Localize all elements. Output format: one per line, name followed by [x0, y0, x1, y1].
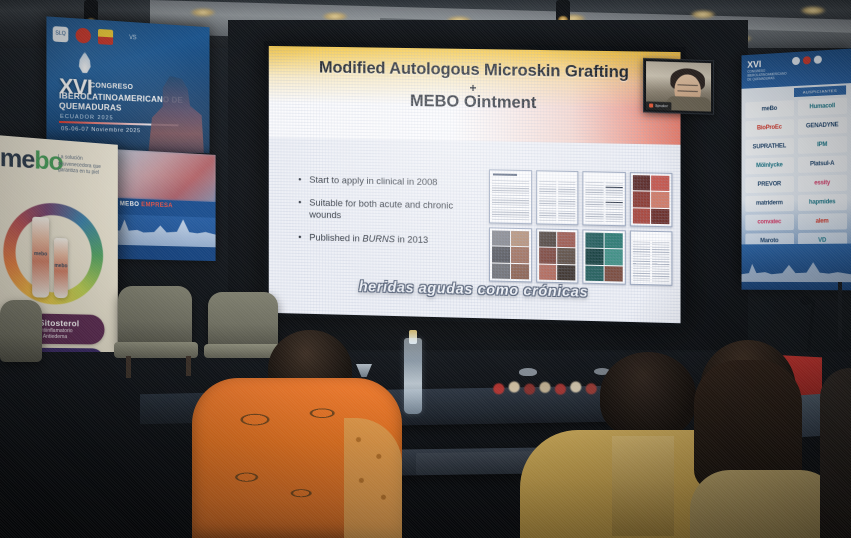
paper-thumbnail [629, 172, 672, 227]
thumb-photo-cell [585, 265, 603, 281]
sponsor-logo: essity [797, 175, 847, 192]
attendee-head [600, 352, 696, 438]
webcam-pip-panel[interactable]: Speaker [643, 58, 714, 115]
bullet-text: Start to apply in clinical in 2008 [309, 174, 437, 189]
paper-thumbnail [582, 171, 625, 226]
sponsor-logo: Mölnlycke [745, 157, 793, 174]
sponsor-banner: XVI CONGRESO IBEROLATINOAMERICANO DE QUE… [742, 49, 851, 291]
sponsor-logo: GENADYNE [797, 117, 847, 135]
thumb-photo-grid [492, 230, 529, 279]
sponsor-logo: alem [797, 213, 847, 230]
journal-name: BURNS [362, 233, 395, 245]
product-tube-small: mebo [54, 238, 68, 298]
jacket-collar [612, 436, 674, 536]
downlight [190, 8, 216, 17]
sponsor-logo: Humacoll [797, 98, 847, 116]
flame-logo-icon [803, 56, 811, 64]
thumb-photo-cell [557, 248, 575, 264]
thumb-figure [605, 187, 622, 203]
thumb-photo-grid [539, 231, 576, 280]
partner-logo-icon [814, 55, 822, 64]
thumb-photo-cell [511, 264, 529, 280]
thumb-photo-cell [651, 208, 669, 224]
thumb-photo-cell [539, 231, 557, 247]
chair-leg [186, 356, 191, 376]
sponsor-logo: BioProEc [745, 119, 793, 137]
thumb-photo-cell [604, 249, 622, 265]
bullet-item: • Start to apply in clinical in 2008 [298, 174, 487, 190]
projection-screen: Modified Autologous Microskin Grafting +… [264, 41, 686, 327]
attendee-orange-top [192, 378, 402, 538]
thumb-text-lines [492, 180, 529, 221]
org-logo-icon: SLQ [53, 26, 69, 42]
mebo-tagline: La solución rejuvenecedora que garantiza… [58, 154, 114, 177]
thumb-column-gap [650, 242, 652, 282]
paper-thumbnail [629, 230, 672, 285]
org-logo-icon [792, 57, 800, 65]
thumb-photo-cell [651, 192, 669, 208]
slide-bullet-list: • Start to apply in clinical in 2008 • S… [298, 174, 487, 259]
thumb-photo-grid [632, 175, 669, 224]
partner-logo-icon: \/S [120, 30, 146, 47]
sponsors-section-label: AUSPICIANTES [794, 85, 846, 97]
thumb-photo-cell [511, 247, 529, 263]
armchair [208, 292, 278, 350]
tube-label: mebo [54, 263, 67, 269]
glasses-icon [677, 84, 697, 92]
product-tube-large: mebo [32, 217, 49, 298]
mebo-brand-logo: mebo [0, 143, 63, 177]
tube-label: mebo [34, 251, 47, 258]
flame-logo-icon [76, 27, 91, 43]
secondary-banner: MEBO EMPRESA [112, 149, 216, 261]
thumb-photo-cell [585, 232, 603, 248]
thumb-photo-cell [557, 232, 575, 248]
thumb-photo-cell [585, 249, 603, 265]
flag-logo-icon [98, 28, 113, 44]
paper-thumbnail [489, 227, 532, 282]
thumb-photo-cell [492, 263, 510, 279]
conference-photo-scene: 2001 JU MATE SLQ \/S XVI CONGRESO IBEROL… [0, 0, 851, 538]
sponsor-logo: matriderm [745, 195, 793, 212]
paper-thumbnail [489, 169, 532, 224]
bullet-marker: • [298, 174, 301, 186]
chair-leg [126, 356, 131, 378]
banner-photo-area [112, 149, 216, 202]
paper-thumbnail [536, 170, 579, 225]
sponsor-logo: meBo [745, 100, 793, 118]
sponsor-logo: IPM [797, 136, 847, 154]
sponsor-banner-header: XVI CONGRESO IBEROLATINOAMERICANO DE QUE… [742, 49, 851, 89]
downlight [690, 10, 716, 19]
thumb-photo-cell [539, 248, 557, 264]
thumb-photo-cell [632, 192, 650, 208]
downlight [800, 6, 826, 15]
webcam-participant-label: Speaker [655, 104, 668, 108]
thumb-photo-cell [539, 264, 557, 280]
paper-thumbnail [582, 229, 625, 284]
thumb-column-gap [557, 182, 559, 222]
paper-thumbnail-grid [489, 169, 672, 285]
glass-small [519, 368, 537, 376]
thumb-photo-cell [604, 266, 622, 282]
sponsor-logo: hapmides [797, 194, 847, 211]
mic-muted-icon [649, 103, 653, 107]
attendee-far-right [820, 368, 851, 538]
thumb-photo-cell [651, 176, 669, 192]
sponsor-logo: PREVOR [745, 176, 793, 193]
thumb-header-bar [493, 173, 517, 175]
sponsor-congress-name: CONGRESO IBEROLATINOAMERICANO DE QUEMADU… [747, 67, 790, 81]
sponsor-logo: Platsul-A [797, 155, 847, 173]
thumb-photo-cell [632, 175, 650, 191]
banner-stand [838, 282, 842, 340]
flower-centerpiece [490, 378, 600, 396]
sponsor-logo: convatec [745, 214, 793, 231]
attendee-torso [690, 470, 840, 538]
thumb-photo-cell [557, 265, 575, 281]
armchair [118, 286, 192, 350]
thumb-photo-cell [604, 233, 622, 249]
banner-base [112, 245, 216, 261]
water-bottle [404, 338, 422, 414]
thumb-photo-cell [511, 231, 529, 247]
bullet-marker: • [298, 196, 301, 220]
speaker-torso [666, 96, 711, 112]
webcam-name-bar: Speaker [646, 101, 671, 110]
sponsor-logo: SUPRATHEL [745, 138, 793, 156]
bullet-item: • Suitable for both acute and chronic wo… [298, 196, 487, 224]
sponsor-logo-grid: meBo Humacoll BioProEc GENADYNE SUPRATHE… [745, 98, 847, 250]
thumb-photo-cell [492, 247, 510, 263]
microphone-icon [800, 296, 812, 305]
paper-thumbnail [536, 228, 579, 283]
congress-banner-screen: SLQ \/S XVI CONGRESO IBEROLATINOAMERICAN… [46, 16, 209, 153]
sponsor-header-logos [792, 55, 822, 65]
presentation-slide: Modified Autologous Microskin Grafting +… [269, 46, 681, 323]
thumb-photo-cell [492, 230, 510, 246]
armchair [0, 300, 42, 362]
thumb-photo-cell [632, 208, 650, 224]
sponsor-banner-footer [742, 244, 851, 291]
bullet-text: Published in BURNS in 2013 [309, 231, 428, 246]
bullet-text: Suitable for both acute and chronic woun… [309, 197, 487, 225]
thumb-photo-grid [585, 232, 622, 281]
city-skyline-icon [742, 256, 851, 282]
ingredient-effect: AntiinflamatorioAntiedema [37, 328, 72, 341]
bullet-item: • Published in BURNS in 2013 [298, 231, 487, 247]
bullet-marker: • [298, 231, 301, 243]
